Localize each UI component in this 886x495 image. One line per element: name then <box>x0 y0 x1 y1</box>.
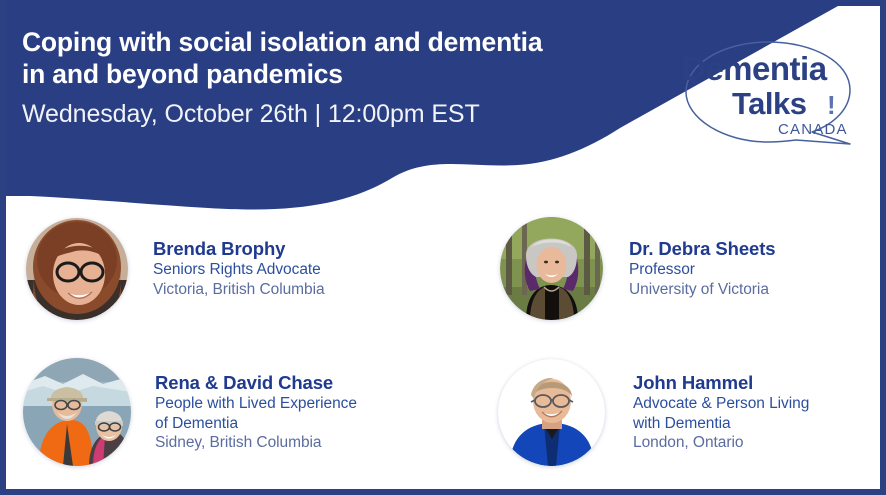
speaker-info: Dr. Debra Sheets Professor University of… <box>603 237 775 300</box>
webinar-promo-poster: Coping with social isolation and dementi… <box>0 0 886 495</box>
speaker-name: John Hammel <box>633 371 809 394</box>
speaker-card-john-hammel: John Hammel Advocate & Person Living wit… <box>496 341 880 483</box>
speaker-card-rena-david-chase: Rena & David Chase People with Lived Exp… <box>6 341 496 483</box>
headshot-man-blue-shirt-glasses-icon <box>498 359 605 466</box>
speaker-info: Brenda Brophy Seniors Rights Advocate Vi… <box>128 237 325 300</box>
avatar-wrap <box>23 358 131 466</box>
avatar <box>23 358 131 466</box>
speaker-location: Sidney, British Columbia <box>155 433 357 453</box>
speaker-name: Rena & David Chase <box>155 371 357 394</box>
avatar <box>26 218 128 320</box>
speaker-location: University of Victoria <box>629 280 775 300</box>
speaker-role-line-1: Advocate & Person Living <box>633 394 809 414</box>
photo-couple-orange-jacket-glacier-icon <box>23 358 131 466</box>
logo-exclamation: ! <box>827 90 836 120</box>
avatar-wrap <box>498 359 605 466</box>
speaker-card-brenda-brophy: Brenda Brophy Seniors Rights Advocate Vi… <box>6 196 496 341</box>
speaker-name: Brenda Brophy <box>153 237 325 260</box>
logo-line-3: CANADA <box>778 121 848 138</box>
speaker-info: John Hammel Advocate & Person Living wit… <box>605 371 809 453</box>
event-datetime: Wednesday, October 26th | 12:00pm EST <box>22 97 642 131</box>
speaker-location: London, Ontario <box>633 433 809 453</box>
header-text-block: Coping with social isolation and dementi… <box>22 26 642 131</box>
logo-line-2: Talks <box>732 86 806 121</box>
avatar <box>498 359 605 466</box>
speaker-role-line-2: of Dementia <box>155 414 357 434</box>
headshot-woman-glasses-auburn-hair-icon <box>26 218 128 320</box>
headshot-woman-silver-purple-hair-outdoors-icon <box>500 217 603 320</box>
logo-line-1: Dementia <box>682 50 828 87</box>
speaker-location: Victoria, British Columbia <box>153 280 325 300</box>
avatar <box>500 217 603 320</box>
avatar-wrap <box>26 218 128 320</box>
speakers-grid: Brenda Brophy Seniors Rights Advocate Vi… <box>6 196 880 483</box>
speaker-info: Rena & David Chase People with Lived Exp… <box>131 371 357 453</box>
speaker-role: Seniors Rights Advocate <box>153 260 325 280</box>
speaker-name: Dr. Debra Sheets <box>629 237 775 260</box>
page-title-line-2: in and beyond pandemics <box>22 58 642 90</box>
avatar-wrap <box>500 217 603 320</box>
speaker-card-debra-sheets: Dr. Debra Sheets Professor University of… <box>496 196 880 341</box>
speaker-role: Professor <box>629 260 775 280</box>
page-title-line-1: Coping with social isolation and dementi… <box>22 26 642 58</box>
dementia-talks-canada-logo: Dementia Talks ! CANADA <box>672 36 868 160</box>
speaker-role-line-2: with Dementia <box>633 414 809 434</box>
speaker-role-line-1: People with Lived Experience <box>155 394 357 414</box>
